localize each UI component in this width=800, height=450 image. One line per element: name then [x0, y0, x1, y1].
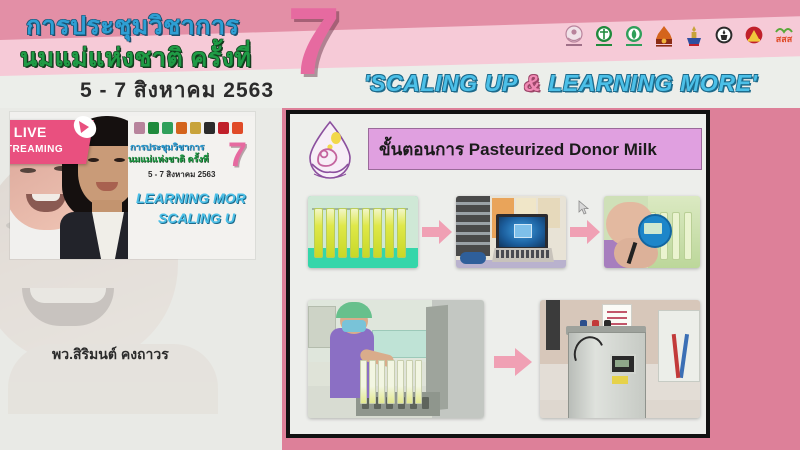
poster-child-eye-left	[20, 168, 36, 173]
royal-emblem-multicolor-logo	[682, 24, 706, 50]
step4-bottle	[360, 360, 367, 404]
step3-tube	[672, 212, 680, 260]
presenter-video-pane[interactable]: การประชุมวิชาการ นมแม่แห่งชาติ ครั้งที่ …	[0, 108, 282, 450]
thai-breastfeeding-foundation-logo	[562, 24, 586, 50]
step4-bottle	[415, 360, 422, 404]
arrow-step2-to-step3	[570, 218, 600, 246]
conference-tagline: 'SCALING UP & LEARNING MORE'	[364, 70, 758, 97]
poster-logo-8	[232, 122, 243, 134]
tagline-part2: LEARNING MORE'	[541, 70, 757, 96]
step1-bottle-rack	[314, 210, 406, 258]
step5-sign-line	[607, 311, 627, 313]
step2-screen-window	[514, 224, 532, 238]
step1-bottle	[373, 208, 382, 258]
digital-thermometer-photo	[604, 196, 700, 268]
public-health-green-logo	[622, 24, 646, 50]
poster-edition-number: 7	[228, 138, 247, 172]
red-circle-emblem-logo	[742, 24, 766, 50]
poster-logo-4	[176, 122, 187, 134]
step2-laptop-keyboard	[496, 250, 550, 258]
panel-title-text: ขั้นตอนการ Pasteurized Donor Milk	[369, 136, 657, 163]
step2-shelf-line	[456, 242, 490, 245]
step5-sign-line	[607, 317, 627, 319]
poster-tagline-line1: LEARNING MOR	[136, 190, 246, 206]
arrow-step4-to-step5	[494, 346, 532, 378]
tagline-ampersand: &	[524, 70, 541, 96]
step4-nurse-mask	[342, 320, 366, 332]
step2-shelf-line	[456, 202, 490, 205]
step1-bottle	[338, 208, 347, 258]
milk-bottle-racks-photo	[308, 196, 418, 268]
step5-display-screen	[615, 360, 629, 367]
nurse-loading-bottles-photo	[308, 300, 484, 418]
watermark-teeth	[30, 288, 106, 303]
poster-title-line2: นมแม่แห่งชาติ ครั้งที่	[128, 152, 209, 166]
content-panel: ขั้นตอนการ Pasteurized Donor Milk	[286, 110, 710, 438]
live-badge-label: LIVE	[14, 124, 47, 140]
poster-child-teeth	[32, 194, 60, 201]
conference-edition-number: 7	[287, 0, 340, 90]
conference-title-line2: นมแม่แห่งชาติ ครั้งที่	[20, 38, 252, 78]
step3-tube	[684, 212, 692, 260]
step1-bottle	[362, 208, 371, 258]
royal-pavilion-orange-logo	[652, 24, 676, 50]
step5-control-display	[610, 354, 636, 374]
step5-dark-column	[546, 300, 560, 350]
arrow-step1-to-step2	[422, 218, 452, 246]
step4-bottle	[378, 360, 385, 404]
step3-meter-display	[644, 223, 662, 234]
step5-yellow-label	[612, 376, 628, 384]
presenter-eye-left	[88, 158, 99, 162]
step4-bottle	[397, 360, 404, 404]
step4-bottle	[369, 360, 376, 404]
panel-title-banner: ขั้นตอนการ Pasteurized Donor Milk	[368, 128, 702, 170]
step2-shelf-line	[456, 232, 490, 235]
poster-logo-7	[218, 122, 229, 134]
step4-bottle-group	[360, 362, 422, 404]
step4-bottle	[387, 360, 394, 404]
poster-logo-3	[162, 122, 173, 134]
step4-tray-slot	[422, 397, 429, 409]
presenter-eye-right	[114, 158, 125, 162]
slide-stage: การประชุมวิชาการ นมแม่แห่งชาติ ครั้งที่ …	[0, 0, 800, 450]
svg-text:สสส: สสส	[776, 35, 793, 45]
conference-header: การประชุมวิชาการ นมแม่แห่งชาติ ครั้งที่ …	[0, 0, 800, 108]
mouse-pointer	[578, 200, 590, 216]
poster-tagline-line2: SCALING U	[158, 210, 235, 226]
step2-mouse-device	[460, 252, 486, 264]
step4-bottle	[406, 360, 413, 404]
poster-logo-1	[134, 122, 145, 134]
video-background-poster: การประชุมวิชาการ นมแม่แห่งชาติ ครั้งที่ …	[128, 116, 255, 259]
poster-dates: 5 - 7 สิงหาคม 2563	[148, 168, 215, 181]
speaker-name: พว.สิริมนต์ คงถาวร	[52, 344, 169, 366]
video-player[interactable]: การประชุมวิชาการ นมแม่แห่งชาติ ครั้งที่ …	[10, 112, 255, 259]
step1-bottle	[350, 208, 359, 258]
laptop-records-photo	[456, 196, 566, 268]
pasteurizer-machine-photo	[540, 300, 700, 418]
human-milk-bank-drop-logo	[294, 116, 366, 188]
ministry-green-circle-logo	[592, 24, 616, 50]
royal-crown-black-circle-logo	[712, 24, 736, 50]
tagline-part1: 'SCALING UP	[364, 70, 524, 96]
poster-logo-row	[134, 122, 243, 134]
step1-bottle	[326, 208, 335, 258]
step1-bottle	[397, 208, 406, 258]
play-triangle-icon[interactable]	[79, 121, 90, 133]
conference-dates: 5 - 7 สิงหาคม 2563	[80, 74, 274, 107]
poster-logo-2	[148, 122, 159, 134]
step1-bottle	[314, 208, 323, 258]
step2-shelf	[456, 196, 490, 256]
sponsor-logo-strip: สสส	[562, 24, 796, 50]
step2-shelf-line	[456, 222, 490, 225]
streaming-badge-label: STREAMING	[10, 144, 63, 155]
thaihealth-sss-logo: สสส	[772, 24, 796, 50]
step1-bottle	[385, 208, 394, 258]
poster-logo-6	[204, 122, 215, 134]
poster-logo-5	[190, 122, 201, 134]
step2-shelf-line	[456, 212, 490, 215]
